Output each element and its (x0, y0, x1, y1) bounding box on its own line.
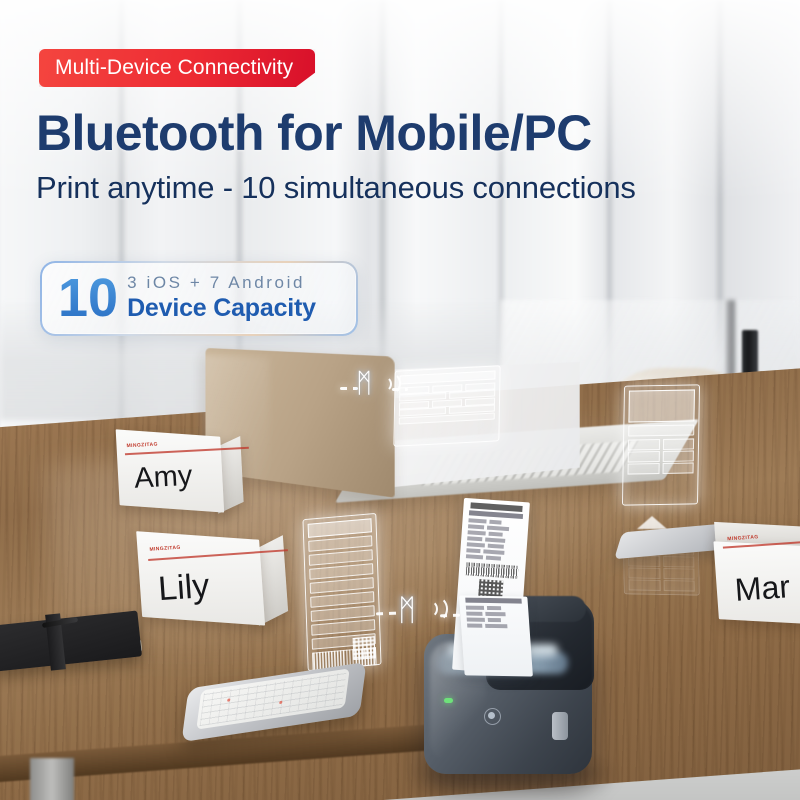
bluetooth-icon: ᛗ (398, 596, 416, 626)
receipt-row (466, 554, 520, 561)
hologram-header (628, 389, 695, 422)
power-led-indicator (444, 698, 453, 703)
hologram-label-preview-front (302, 513, 381, 671)
hologram-header (308, 518, 372, 538)
upload-chevron-icon (637, 516, 667, 529)
page-subtitle: Print anytime - 10 simultaneous connecti… (36, 170, 636, 206)
receipt-row (467, 623, 523, 628)
hologram-row (628, 424, 694, 436)
receipt-row (467, 618, 523, 623)
receipt-row (466, 612, 522, 617)
power-button-icon (488, 712, 495, 719)
name-card-label: Amy (133, 460, 193, 496)
receipt-row (466, 606, 522, 611)
printed-label-receipt-lower (459, 596, 533, 677)
feature-badge: Multi-Device Connectivity (39, 49, 315, 87)
name-card-mark: MINGZITAG Mar (712, 515, 800, 635)
name-card-lily: MINGZITAG Lily (136, 523, 303, 644)
hologram-row (628, 438, 694, 448)
bluetooth-icon: ᛗ (356, 370, 372, 397)
bluetooth-signal-wave (379, 372, 401, 395)
capacity-number: 10 (58, 271, 118, 325)
bluetooth-signal-wave (424, 596, 448, 622)
name-card-label: Mar (734, 568, 792, 609)
hologram-row (628, 569, 694, 579)
hologram-qr-code (353, 636, 376, 660)
marketing-banner: MINGZITAG Amy MINGZITAG Lily MINGZITAG M… (0, 0, 800, 800)
capacity-main-label: Device Capacity (127, 294, 316, 323)
receipt-title (469, 510, 523, 519)
hologram-row (628, 462, 694, 472)
table-leg (30, 758, 74, 800)
hologram-label-preview-laptop (393, 365, 500, 447)
hologram-row (628, 450, 694, 460)
page-title: Bluetooth for Mobile/PC (36, 104, 592, 162)
receipt-barcode (466, 562, 519, 579)
hologram-row (628, 557, 694, 567)
receipt-title (465, 598, 522, 604)
hologram-row (629, 581, 695, 591)
device-capacity-card: 10 3 iOS + 7 Android Device Capacity (40, 261, 357, 335)
name-card-label: Lily (157, 567, 211, 609)
bluetooth-link-dashes (392, 388, 408, 391)
capacity-text-group: 3 iOS + 7 Android Device Capacity (127, 273, 316, 323)
feature-badge-label: Multi-Device Connectivity (55, 56, 293, 80)
hologram-label-preview-right (622, 384, 700, 505)
name-card-amy: MINGZITAG Amy (116, 420, 261, 523)
printer-lid-latch[interactable] (552, 712, 568, 740)
capacity-sub-label: 3 iOS + 7 Android (127, 273, 316, 293)
